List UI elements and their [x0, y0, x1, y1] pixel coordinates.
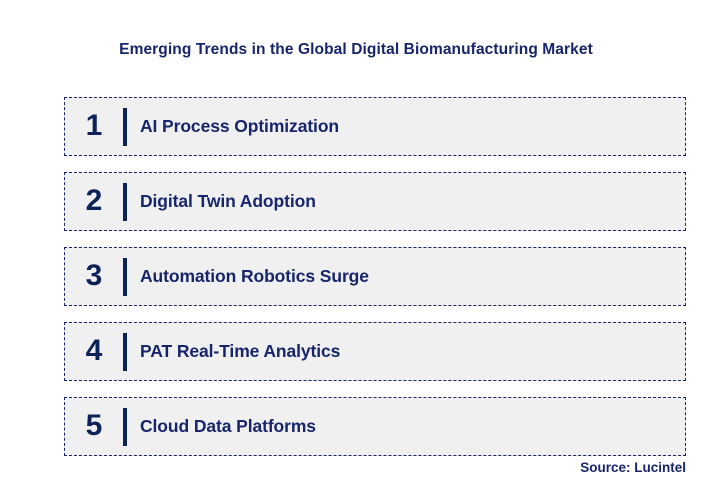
trend-list: 1 AI Process Optimization 2 Digital Twin… [64, 97, 686, 456]
list-item[interactable]: 2 Digital Twin Adoption [64, 172, 686, 231]
rank-number: 2 [65, 186, 123, 218]
list-item[interactable]: 4 PAT Real-Time Analytics [64, 322, 686, 381]
trends-infographic: Emerging Trends in the Global Digital Bi… [0, 0, 712, 501]
rank-number: 3 [65, 261, 123, 293]
list-item[interactable]: 3 Automation Robotics Surge [64, 247, 686, 306]
rank-number: 1 [65, 111, 123, 143]
list-item[interactable]: 5 Cloud Data Platforms [64, 397, 686, 456]
source-attribution: Source: Lucintel [580, 460, 686, 475]
trend-label: AI Process Optimization [127, 116, 685, 137]
list-item[interactable]: 1 AI Process Optimization [64, 97, 686, 156]
trend-label: Digital Twin Adoption [127, 191, 685, 212]
trend-label: PAT Real-Time Analytics [127, 341, 685, 362]
rank-number: 4 [65, 336, 123, 368]
trend-label: Automation Robotics Surge [127, 266, 685, 287]
trend-label: Cloud Data Platforms [127, 416, 685, 437]
page-title: Emerging Trends in the Global Digital Bi… [0, 41, 712, 59]
rank-number: 5 [65, 411, 123, 443]
